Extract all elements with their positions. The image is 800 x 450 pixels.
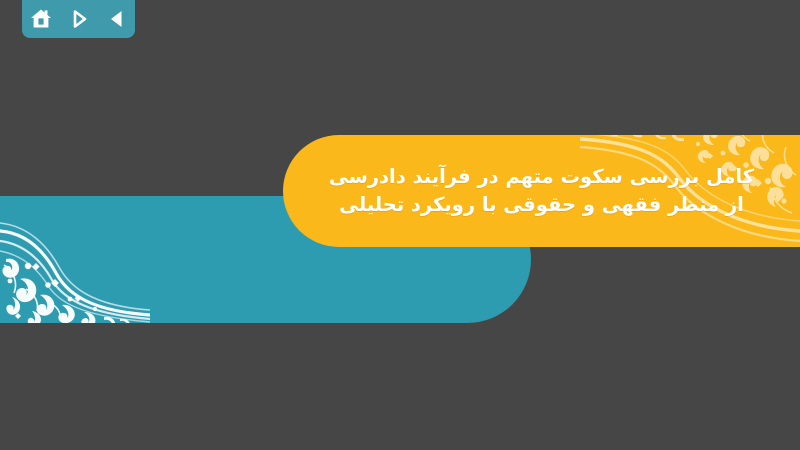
home-button[interactable] — [28, 6, 54, 32]
triangle-right-icon — [68, 8, 90, 30]
navigation-bar — [22, 0, 135, 38]
triangle-left-icon — [106, 8, 128, 30]
home-icon — [29, 7, 53, 31]
arabesque-corner-ornament-teal — [0, 196, 150, 323]
next-button[interactable] — [66, 6, 92, 32]
previous-button[interactable] — [104, 6, 130, 32]
slide-canvas: کامل بررسی سکوت متهم در فرآیند دادرسی از… — [0, 0, 800, 450]
orange-banner — [283, 135, 800, 247]
arabesque-corner-ornament-orange — [580, 135, 800, 247]
